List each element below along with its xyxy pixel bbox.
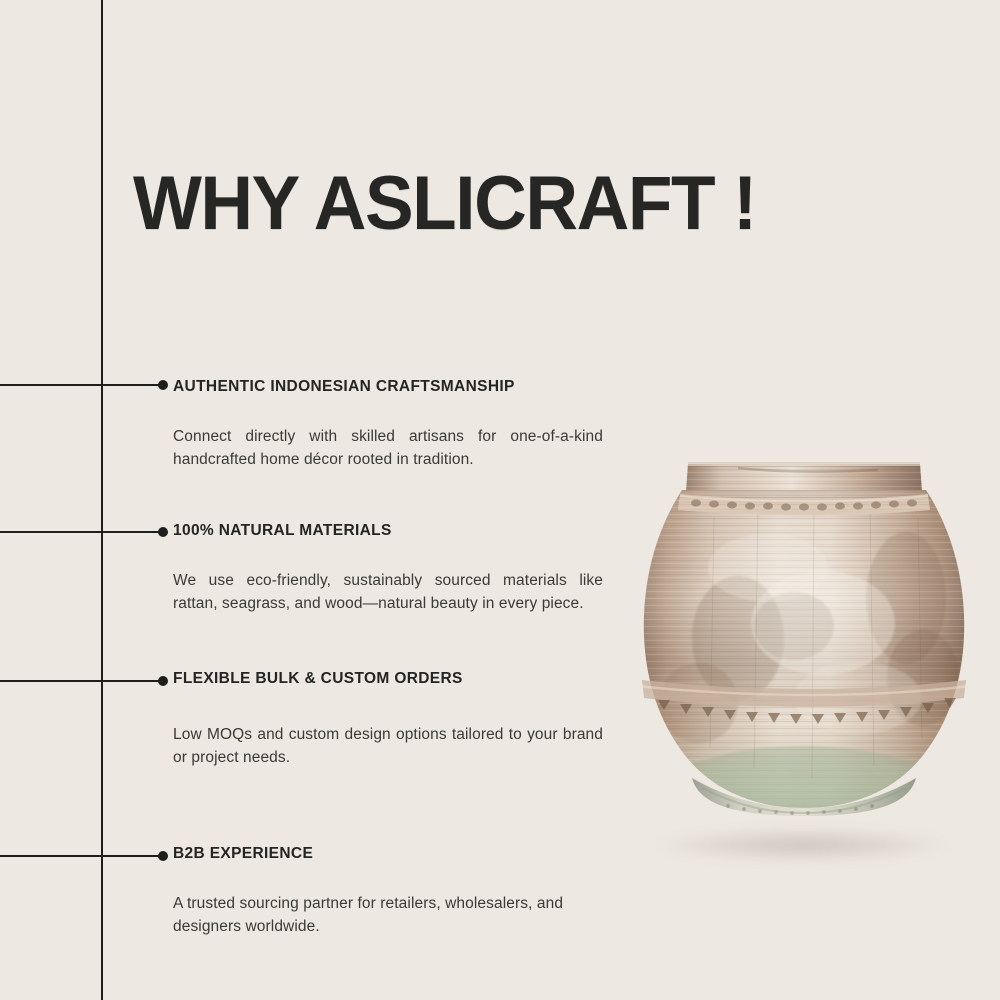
- feature-heading: FLEXIBLE BULK & CUSTOM ORDERS: [173, 670, 603, 688]
- bullet-dot-icon: [158, 851, 168, 861]
- bullet-dot-icon: [158, 527, 168, 537]
- page-title: WHY ASLICRAFT !: [133, 166, 756, 242]
- feature-item: AUTHENTIC INDONESIAN CRAFTSMANSHIP Conne…: [173, 378, 603, 471]
- poster-canvas: WHY ASLICRAFT ! AUTHENTIC INDONESIAN CRA…: [0, 0, 1000, 1000]
- product-image-pot: [618, 448, 990, 860]
- feature-heading: AUTHENTIC INDONESIAN CRAFTSMANSHIP: [173, 378, 603, 396]
- feature-heading: B2B EXPERIENCE: [173, 845, 603, 863]
- pot-illustration-svg: [618, 448, 990, 860]
- feature-body: Connect directly with skilled artisans f…: [173, 426, 603, 471]
- feature-body: A trusted sourcing partner for retailers…: [173, 893, 603, 938]
- vertical-rule: [101, 0, 103, 1000]
- connector-line-2: [0, 531, 163, 533]
- connector-line-1: [0, 384, 163, 386]
- feature-heading: 100% NATURAL MATERIALS: [173, 522, 603, 540]
- connector-line-3: [0, 680, 163, 682]
- feature-item: 100% NATURAL MATERIALS We use eco-friend…: [173, 522, 603, 615]
- feature-body: We use eco-friendly, sustainably sourced…: [173, 570, 603, 615]
- bullet-dot-icon: [158, 380, 168, 390]
- feature-body: Low MOQs and custom design options tailo…: [173, 724, 603, 769]
- feature-item: FLEXIBLE BULK & CUSTOM ORDERS Low MOQs a…: [173, 670, 603, 769]
- bullet-dot-icon: [158, 676, 168, 686]
- connector-line-4: [0, 855, 163, 857]
- feature-item: B2B EXPERIENCE A trusted sourcing partne…: [173, 845, 603, 938]
